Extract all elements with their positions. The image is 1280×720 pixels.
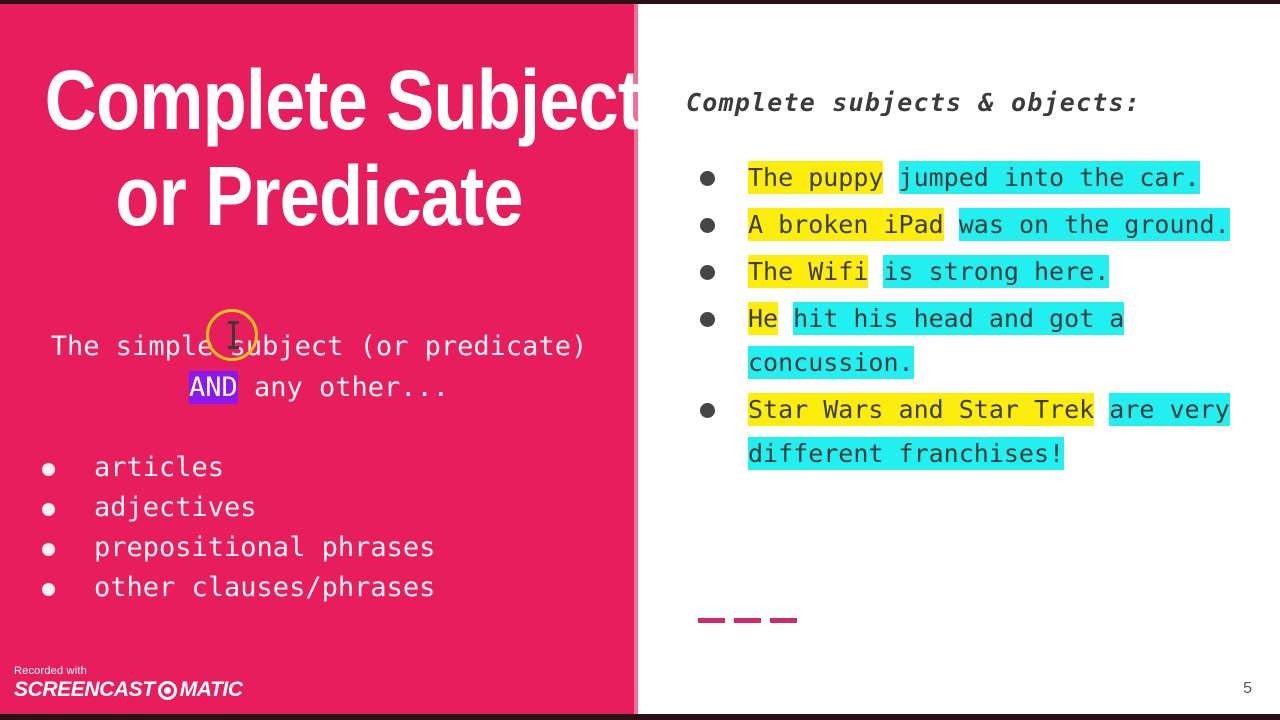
letterbox-bar-top — [0, 0, 1280, 4]
list-item: prepositional phrases — [36, 528, 616, 568]
left-bullet-label: other clauses/phrases — [94, 572, 435, 603]
annotation-dash — [698, 618, 725, 623]
left-pink-panel: Complete Subject or Predicate The simple… — [0, 0, 638, 720]
text-cursor-icon — [228, 321, 239, 349]
left-bullet-label: prepositional phrases — [94, 532, 435, 563]
screencast-o-matic-logo-icon — [158, 681, 177, 700]
page-title: Complete Subject or Predicate — [45, 52, 594, 244]
left-bullet-label: articles — [94, 452, 224, 483]
annotation-dashes — [698, 618, 797, 623]
list-item: Star Wars and Star Trek are very differe… — [686, 388, 1271, 476]
ibeam-bottom-cap — [228, 346, 239, 349]
example-sentence: The puppy jumped into the car. — [748, 156, 1271, 200]
complete-predicate-highlight: jumped into the car. — [899, 161, 1200, 194]
page-title-line-2: or Predicate — [45, 148, 594, 244]
page-number: 5 — [1243, 680, 1252, 698]
list-item: A broken iPad was on the ground. — [686, 203, 1271, 247]
bullet-dot-icon — [700, 403, 715, 418]
complete-predicate-highlight: was on the ground. — [959, 208, 1230, 241]
complete-subject-highlight: The Wifi — [748, 255, 868, 288]
list-item: articles — [36, 448, 616, 488]
bullet-dot-icon — [42, 463, 55, 476]
lead-text-after: any other... — [238, 372, 449, 403]
complete-subject-highlight: Star Wars and Star Trek — [748, 393, 1094, 426]
list-item: He hit his head and got a concussion. — [686, 297, 1271, 385]
page-title-line-1: Complete Subject — [45, 52, 594, 148]
bullet-dot-icon — [700, 265, 715, 280]
left-bullet-list: articles adjectives prepositional phrase… — [36, 448, 616, 608]
bullet-dot-icon — [42, 503, 55, 516]
bullet-dot-icon — [700, 312, 715, 327]
lead-paragraph: The simple subject (or predicate) AND an… — [30, 326, 608, 408]
watermark-brand-right: MATIC — [180, 678, 243, 702]
complete-predicate-highlight: hit his head and got a concussion. — [748, 302, 1124, 379]
left-bullet-label: adjectives — [94, 492, 257, 523]
bullet-dot-icon — [700, 171, 715, 186]
examples-list: The puppy jumped into the car. A broken … — [686, 156, 1271, 479]
bullet-dot-icon — [42, 543, 55, 556]
watermark-recorded-with-label: Recorded with — [14, 665, 243, 677]
screencast-o-matic-watermark: Recorded with SCREENCAST MATIC — [14, 665, 243, 702]
example-sentence: The Wifi is strong here. — [748, 250, 1271, 294]
list-item: The puppy jumped into the car. — [686, 156, 1271, 200]
right-white-panel: Complete subjects & objects: The puppy j… — [638, 0, 1280, 720]
example-sentence: A broken iPad was on the ground. — [748, 203, 1271, 247]
list-item: The Wifi is strong here. — [686, 250, 1271, 294]
annotation-dash — [734, 618, 761, 623]
watermark-brand-left: SCREENCAST — [14, 678, 155, 702]
lead-text-before: The simple subject (or predicate) — [51, 331, 604, 362]
bullet-dot-icon — [42, 583, 55, 596]
watermark-brand: SCREENCAST MATIC — [14, 678, 243, 702]
bullet-dot-icon — [700, 218, 715, 233]
examples-heading: Complete subjects & objects: — [686, 88, 1141, 117]
annotation-dash — [770, 618, 797, 623]
letterbox-bar-bottom — [0, 714, 1280, 720]
ibeam-stem — [232, 321, 235, 349]
list-item: adjectives — [36, 488, 616, 528]
complete-subject-highlight: The puppy — [748, 161, 883, 194]
lead-highlight-and: AND — [189, 371, 238, 404]
complete-predicate-highlight: is strong here. — [883, 255, 1109, 288]
complete-subject-highlight: A broken iPad — [748, 208, 944, 241]
list-item: other clauses/phrases — [36, 568, 616, 608]
complete-subject-highlight: He — [748, 302, 778, 335]
example-sentence: Star Wars and Star Trek are very differe… — [748, 388, 1271, 476]
slide-canvas: Complete Subject or Predicate The simple… — [0, 0, 1280, 720]
example-sentence: He hit his head and got a concussion. — [748, 297, 1271, 385]
